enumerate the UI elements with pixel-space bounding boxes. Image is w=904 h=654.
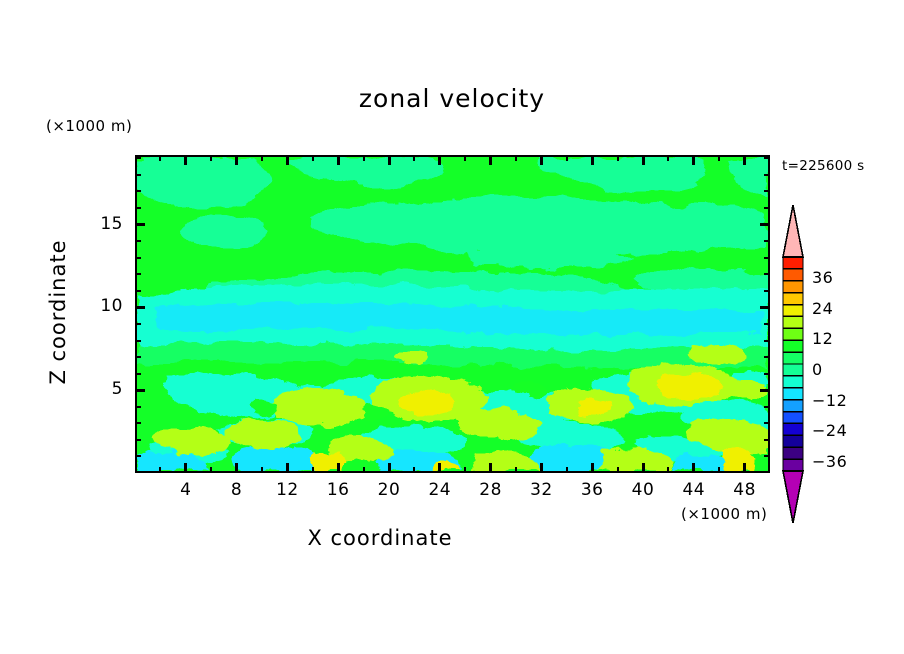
x-tick [438,463,441,473]
colorbar-cell [783,257,803,269]
x-tick [286,155,289,165]
y-tick [135,174,141,176]
colorbar-label--36: −36 [812,452,847,471]
y-tick [135,455,141,457]
x-tick [388,155,391,165]
y-tick-label-5: 5 [83,379,123,399]
y-axis-title: Z coordinate [46,212,70,412]
x-tick [337,463,340,473]
x-tick [591,463,594,473]
x-tick [184,463,187,473]
y-tick [135,190,141,192]
y-tick [135,323,141,325]
y-tick [135,373,141,375]
contour-field [137,157,768,471]
colorbar-cell [783,364,803,376]
x-tick [210,155,212,161]
figure-canvas: zonal velocity (×1000 m) (×1000 m) t=225… [0,0,904,654]
x-tick [718,467,720,473]
x-tick [261,155,263,161]
x-tick [540,463,543,473]
x-tick-label-8: 8 [217,480,257,500]
colorbar-cell [783,412,803,424]
x-axis-title: X coordinate [0,526,760,550]
x-tick-label-20: 20 [369,480,409,500]
colorbar-cell [783,340,803,352]
colorbar-cell [783,435,803,447]
x-tick [413,467,415,473]
x-tick [489,155,492,165]
y-tick [764,257,770,259]
x-axis-unit-label: (×1000 m) [681,505,767,523]
x-tick [235,463,238,473]
x-tick [184,155,187,165]
colorbar-cell [783,269,803,281]
y-axis-unit-label: (×1000 m) [46,117,132,135]
y-tick [764,240,770,242]
x-tick [312,467,314,473]
y-tick [135,406,141,408]
x-tick-label-4: 4 [166,480,206,500]
x-tick [363,155,365,161]
y-tick [764,373,770,375]
x-tick [566,467,568,473]
y-tick [135,422,141,424]
x-tick [210,467,212,473]
colorbar-cell [783,376,803,388]
x-tick [489,463,492,473]
x-tick [388,463,391,473]
y-tick [764,455,770,457]
x-tick-label-24: 24 [420,480,460,500]
colorbar-cell [783,459,803,471]
y-tick [764,273,770,275]
y-tick [764,174,770,176]
x-tick [464,467,466,473]
y-tick [764,207,770,209]
y-tick [764,422,770,424]
contour-plot-area [135,155,770,473]
x-tick [692,155,695,165]
y-tick [760,306,770,309]
y-tick [135,273,141,275]
colorbar-cell [783,293,803,305]
colorbar-cell [783,423,803,435]
y-tick [135,257,141,259]
y-tick [764,290,770,292]
x-tick [515,155,517,161]
x-tick [667,155,669,161]
colorbar-cell [783,328,803,340]
x-tick [159,467,161,473]
colorbar-label--24: −24 [812,421,847,440]
y-tick [135,240,141,242]
colorbar-label-0: 0 [812,360,823,379]
x-tick [261,467,263,473]
colorbar-label--12: −12 [812,391,847,410]
x-tick [642,463,645,473]
x-tick [617,155,619,161]
x-tick [667,467,669,473]
y-tick [764,356,770,358]
colorbar-cell [783,305,803,317]
y-tick [135,290,141,292]
y-tick [760,389,770,392]
x-tick [413,155,415,161]
x-tick [235,155,238,165]
x-tick [718,155,720,161]
x-tick [363,467,365,473]
x-tick-label-32: 32 [521,480,561,500]
colorbar-cell [783,388,803,400]
colorbar-cell [783,400,803,412]
y-tick [135,389,145,392]
y-tick [135,157,141,159]
chart-title: zonal velocity [0,84,904,113]
colorbar-cell [783,447,803,459]
x-tick [591,155,594,165]
x-tick [692,463,695,473]
y-tick [135,306,145,309]
y-tick [135,356,141,358]
x-tick [743,155,746,165]
timestamp-annotation: t=225600 s [782,158,864,174]
y-tick [135,340,141,342]
x-tick [515,467,517,473]
x-tick [464,155,466,161]
colorbar [781,205,805,523]
x-tick-label-36: 36 [572,480,612,500]
x-tick-label-16: 16 [318,480,358,500]
y-tick-label-15: 15 [83,214,123,234]
y-tick [764,439,770,441]
colorbar-label-36: 36 [812,268,833,287]
x-tick-label-48: 48 [725,480,765,500]
y-tick [764,157,770,159]
y-tick [764,190,770,192]
y-tick-label-10: 10 [83,296,123,316]
y-tick [764,406,770,408]
colorbar-label-24: 24 [812,299,833,318]
colorbar-cell [783,352,803,364]
x-tick [337,155,340,165]
x-tick [286,463,289,473]
y-tick [135,207,141,209]
x-tick [743,463,746,473]
x-tick [159,155,161,161]
x-tick [642,155,645,165]
x-tick [566,155,568,161]
x-tick-label-12: 12 [267,480,307,500]
x-tick [312,155,314,161]
x-tick-label-44: 44 [674,480,714,500]
x-tick [540,155,543,165]
y-tick [135,439,141,441]
x-tick [617,467,619,473]
y-tick [135,223,145,226]
y-tick [764,323,770,325]
y-tick [764,340,770,342]
x-tick-label-40: 40 [623,480,663,500]
colorbar-cell [783,281,803,293]
colorbar-label-12: 12 [812,329,833,348]
x-tick [438,155,441,165]
colorbar-cell [783,316,803,328]
y-tick [760,223,770,226]
x-tick-label-28: 28 [471,480,511,500]
